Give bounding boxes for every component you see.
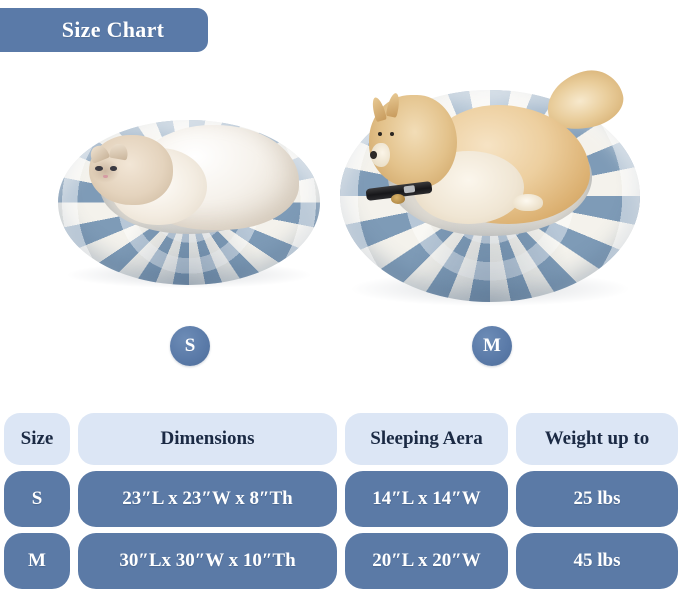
cat-face-mask [91,159,120,183]
cat-eye-right [110,166,118,171]
dog-paw [513,194,543,211]
cell-weight-m: 45 lbs [516,533,678,589]
dog-eye-left [378,132,382,136]
cell-size-m: M [4,533,70,589]
size-badge-small: S [170,326,210,366]
dog-illustration [358,69,634,234]
table-row: S 23″L x 23″W x 8″Th 14″L x 14″W 25 lbs [4,471,676,527]
product-photo-small-bed [58,120,320,285]
size-table: Size Dimensions Sleeping Aera Weight up … [4,413,676,589]
cell-weight-s: 25 lbs [516,471,678,527]
dog-head [369,95,457,188]
size-chart-banner: Size Chart [0,8,208,52]
dog-ear-left [370,96,388,122]
cat-ear-right [108,142,128,160]
dog-nose [370,151,377,159]
cell-dimensions-s: 23″L x 23″W x 8″Th [78,471,337,527]
product-photo-area [0,60,679,310]
table-header-row: Size Dimensions Sleeping Aera Weight up … [4,413,676,465]
column-header-size: Size [4,413,70,465]
column-header-sleeping-area: Sleeping Aera [345,413,508,465]
dog-ear-right [386,92,402,118]
product-photo-medium-bed [340,90,640,302]
size-badge-medium: M [472,326,512,366]
size-badge-medium-label: M [483,335,501,357]
cell-size-s: S [4,471,70,527]
table-row: M 30″Lx 30″W x 10″Th 20″L x 20″W 45 lbs [4,533,676,589]
column-header-dimensions: Dimensions [78,413,337,465]
page-title: Size Chart [62,17,165,43]
dog-collar-buckle [404,184,415,193]
cat-eye-left [95,166,103,171]
dog-collar-tag [391,194,405,204]
dog-eye-right [390,132,394,136]
column-header-weight: Weight up to [516,413,678,465]
cell-sleeping-area-s: 14″L x 14″W [345,471,508,527]
cell-dimensions-m: 30″Lx 30″W x 10″Th [78,533,337,589]
cell-sleeping-area-m: 20″L x 20″W [345,533,508,589]
cat-illustration [89,110,299,235]
cat-head [89,135,173,205]
size-badge-small-label: S [185,335,196,357]
